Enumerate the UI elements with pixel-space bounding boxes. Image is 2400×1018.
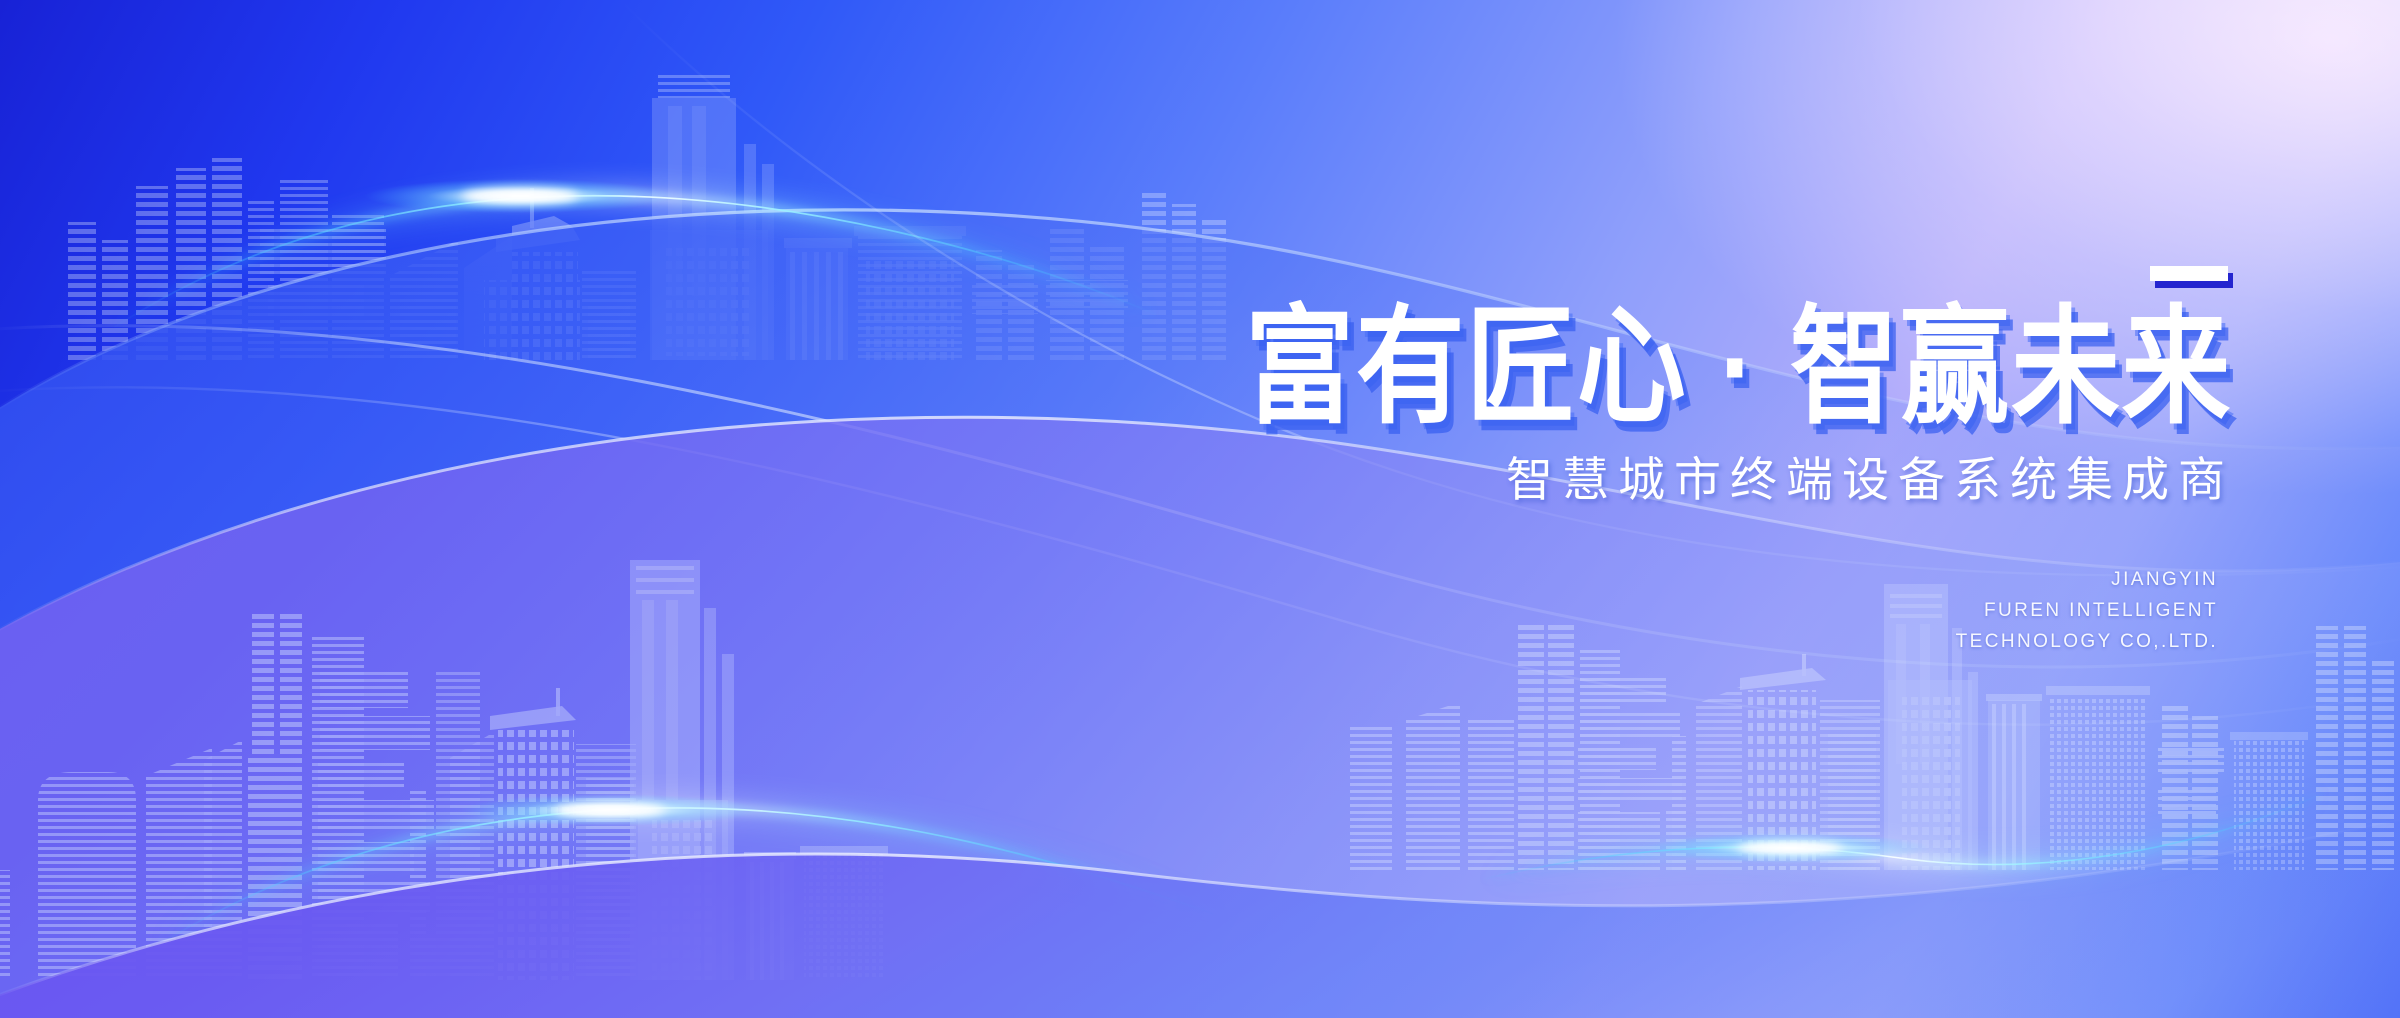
banner-canvas: 富有匠心 · 智赢未来 智慧城市终端设备系统集成商 JIANGYIN FUREN… bbox=[0, 0, 2400, 1018]
headline-block: 富有匠心 · 智赢未来 智慧城市终端设备系统集成商 JIANGYIN FUREN… bbox=[1040, 220, 2240, 657]
page-subtitle: 智慧城市终端设备系统集成商 bbox=[1040, 456, 2240, 503]
company-en-line-3: TECHNOLOGY CO,.LTD. bbox=[1040, 627, 2218, 658]
company-name-en: JIANGYIN FUREN INTELLIGENT TECHNOLOGY CO… bbox=[1040, 565, 2240, 657]
company-en-line-2: FUREN INTELLIGENT bbox=[1040, 596, 2218, 627]
horizontal-stroke-accent-icon bbox=[2150, 266, 2228, 281]
page-title: 富有匠心 · 智赢未来 bbox=[1076, 304, 2240, 432]
dash-accent-row bbox=[1040, 220, 2240, 290]
company-en-line-1: JIANGYIN bbox=[1040, 565, 2218, 596]
